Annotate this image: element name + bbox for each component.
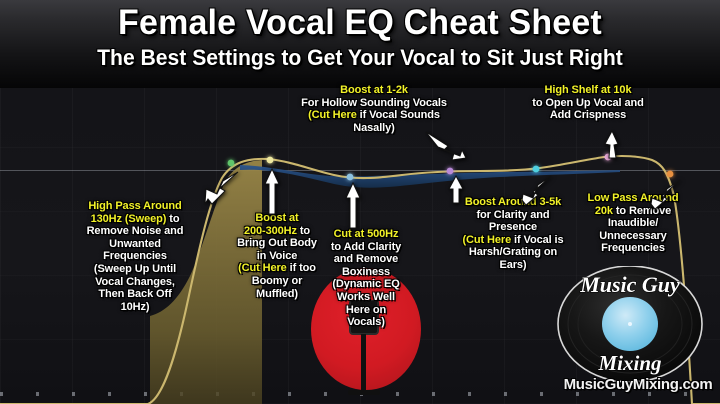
annotation-line: (Sweep Up Until xyxy=(60,263,210,276)
logo-brand-top: Music Guy xyxy=(579,272,680,297)
annotation-boost-200-300hz: Boost at200-300Hz toBring Out Bodyin Voi… xyxy=(224,212,330,300)
annotation-line: Cut at 500Hz xyxy=(318,228,414,241)
annotation-text: if too xyxy=(287,262,316,274)
header-banner: Female Vocal EQ Cheat Sheet The Best Set… xyxy=(0,0,720,88)
annotation-text: Unwanted xyxy=(109,238,161,250)
eq-node-boost-1-2k[interactable] xyxy=(447,168,454,175)
annotation-highlight-text: 20k xyxy=(595,205,613,217)
annotation-line: and Remove xyxy=(318,253,414,266)
annotation-text: Vocals) xyxy=(347,316,385,328)
annotation-text: Then Back Off xyxy=(98,288,171,300)
annotation-line: Unnecessary xyxy=(577,230,689,243)
annotation-text: to xyxy=(166,213,179,225)
annotation-high-shelf-10k: High Shelf at 10kto Open Up Vocal andAdd… xyxy=(498,84,678,122)
annotation-highlight-text: (Cut Here xyxy=(238,262,287,274)
annotation-line: Unwanted xyxy=(60,238,210,251)
annotation-line: (Cut Here if Vocal Sounds xyxy=(276,109,472,122)
annotation-line: for Clarity and xyxy=(440,209,586,222)
music-guy-mixing-logo[interactable]: Music Guy Mixing xyxy=(556,266,704,390)
arrow-to-boost-200-node xyxy=(262,168,282,216)
annotation-line: Works Well xyxy=(318,291,414,304)
annotation-line: Boxiness xyxy=(318,266,414,279)
annotation-text: (Sweep Up Until xyxy=(94,263,176,275)
annotation-high-pass: High Pass Around130Hz (Sweep) toRemove N… xyxy=(60,200,210,313)
eq-node-boost-200-300[interactable] xyxy=(267,157,274,164)
annotation-text: Here on xyxy=(346,304,386,316)
annotation-text: For Hollow Sounding Vocals xyxy=(301,97,447,109)
eq-node-cut-500[interactable] xyxy=(347,174,354,181)
annotation-line: High Shelf at 10k xyxy=(498,84,678,97)
annotation-text: if Vocal is xyxy=(511,234,563,246)
annotation-text: Boxiness xyxy=(342,266,390,278)
annotation-highlight-text: 130Hz (Sweep) xyxy=(91,213,167,225)
arrow-to-high-shelf-node xyxy=(598,130,632,160)
annotation-text: Boomy or xyxy=(252,275,303,287)
annotation-text: Ears) xyxy=(499,259,526,271)
annotation-line: Remove Noise and xyxy=(60,225,210,238)
annotation-line: Harsh/Grating on xyxy=(440,246,586,259)
annotation-text: Works Well xyxy=(337,291,395,303)
annotation-line: to Open Up Vocal and xyxy=(498,97,678,110)
arrow-to-cut-500-node xyxy=(343,182,363,230)
annotation-line: 10Hz) xyxy=(60,301,210,314)
annotation-highlight-text: High Shelf at 10k xyxy=(545,84,632,96)
annotation-text: to Add Clarity xyxy=(331,241,401,253)
annotation-line: Then Back Off xyxy=(60,288,210,301)
annotation-line: (Dynamic EQ xyxy=(318,278,414,291)
annotation-text: Unnecessary xyxy=(599,230,666,242)
annotation-highlight-text: 200-300Hz xyxy=(244,225,297,237)
eq-cut-area xyxy=(240,165,620,188)
eq-cheat-sheet-canvas: Female Vocal EQ Cheat Sheet The Best Set… xyxy=(0,0,720,404)
annotation-line: Presence xyxy=(440,221,586,234)
annotation-boost-3-5k: Boost Around 3-5kfor Clarity andPresence… xyxy=(440,196,586,272)
arrow-to-low-pass-node xyxy=(650,178,684,212)
arrow-to-high-pass-node xyxy=(204,168,244,208)
annotation-line: Muffled) xyxy=(224,288,330,301)
annotation-line: For Hollow Sounding Vocals xyxy=(276,97,472,110)
annotation-line: 130Hz (Sweep) to xyxy=(60,213,210,226)
logo-website-url[interactable]: MusicGuyMixing.com xyxy=(556,376,720,393)
annotation-text: Nasally) xyxy=(353,122,394,134)
annotation-line: Vocal Changes, xyxy=(60,276,210,289)
annotation-text: to Open Up Vocal and xyxy=(532,97,643,109)
annotation-line: Boomy or xyxy=(224,275,330,288)
annotation-highlight-text: (Cut Here xyxy=(462,234,511,246)
annotation-text: Vocal Changes, xyxy=(95,276,175,288)
annotation-highlight-text: Boost at 1-2k xyxy=(340,84,408,96)
annotation-line: Vocals) xyxy=(318,316,414,329)
arrow-to-high-shelf-label xyxy=(424,128,468,162)
annotation-line: 200-300Hz to xyxy=(224,225,330,238)
annotation-text: Inaudible/ xyxy=(608,217,658,229)
arrow-to-boost-1-2k-node xyxy=(446,175,466,205)
eq-node-highpass[interactable] xyxy=(228,160,235,167)
annotation-text: (Dynamic EQ xyxy=(332,278,399,290)
annotation-line: in Voice xyxy=(224,250,330,263)
annotation-text: Muffled) xyxy=(256,288,298,300)
annotation-line: Add Crispness xyxy=(498,109,678,122)
annotation-line: Bring Out Body xyxy=(224,237,330,250)
logo-brand-bottom: Mixing xyxy=(597,351,661,375)
eq-node-boost-3-5k[interactable] xyxy=(533,166,540,173)
annotation-line: Here on xyxy=(318,304,414,317)
annotation-text: Frequencies xyxy=(601,242,665,254)
annotation-highlight-text: (Cut Here xyxy=(308,109,357,121)
page-subtitle: The Best Settings to Get Your Vocal to S… xyxy=(14,45,705,71)
annotation-text: Harsh/Grating on xyxy=(469,246,557,258)
annotation-line: High Pass Around xyxy=(60,200,210,213)
annotation-text: for Clarity and xyxy=(476,209,549,221)
annotation-line: (Cut Here if too xyxy=(224,262,330,275)
annotation-line: Frequencies xyxy=(60,250,210,263)
annotation-text: Frequencies xyxy=(103,250,167,262)
annotation-text: to xyxy=(297,225,310,237)
arrow-to-boost-3-5k-node xyxy=(521,174,555,208)
annotation-cut-500hz: Cut at 500Hzto Add Clarityand RemoveBoxi… xyxy=(318,228,414,329)
eq-node-low-pass-20k[interactable] xyxy=(667,171,674,178)
annotation-line: Inaudible/ xyxy=(577,217,689,230)
annotation-text: if Vocal Sounds xyxy=(357,109,440,121)
annotation-text: and Remove xyxy=(334,253,398,265)
annotation-line: Boost at 1-2k xyxy=(276,84,472,97)
annotation-highlight-text: High Pass Around xyxy=(88,200,181,212)
annotation-text: 10Hz) xyxy=(121,301,150,313)
annotation-text: Presence xyxy=(489,221,537,233)
annotation-text: Add Crispness xyxy=(550,109,626,121)
annotation-text: Remove Noise and xyxy=(87,225,184,237)
annotation-text: in Voice xyxy=(257,250,298,262)
annotation-line: (Cut Here if Vocal is xyxy=(440,234,586,247)
annotation-line: Frequencies xyxy=(577,242,689,255)
annotation-text: Bring Out Body xyxy=(237,237,317,249)
annotation-boost-1-2k: Boost at 1-2kFor Hollow Sounding Vocals(… xyxy=(276,84,472,134)
annotation-line: to Add Clarity xyxy=(318,241,414,254)
page-title: Female Vocal EQ Cheat Sheet xyxy=(11,2,709,44)
